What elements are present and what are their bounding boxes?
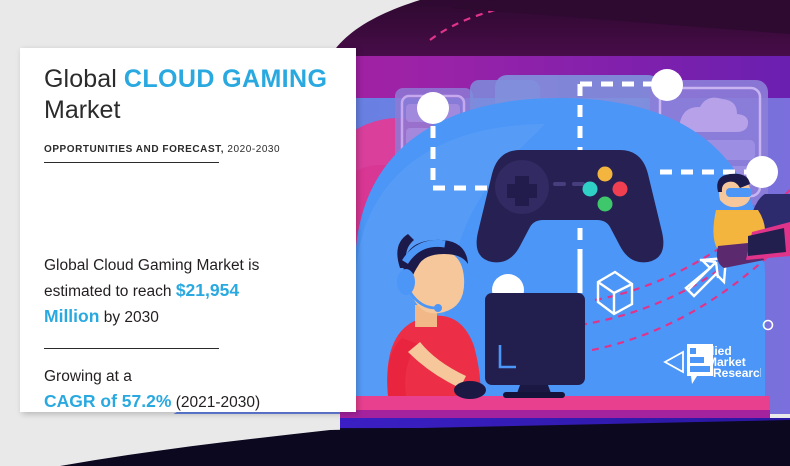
subtitle: OPPORTUNITIES AND FORECAST, 2020-2030 [44, 144, 346, 155]
page-title: Global CLOUD GAMING [44, 64, 346, 95]
monitor-screen [485, 293, 585, 385]
gamepad-button-yellow [598, 167, 613, 182]
node-circle-top-left [417, 92, 449, 124]
title-accent: CLOUD GAMING [124, 65, 327, 93]
headset-earcup [397, 269, 415, 295]
subtitle-underline [44, 162, 219, 163]
headset-mic-tip [434, 304, 442, 312]
page-title-line2: Market [44, 95, 346, 126]
market-value-statement: Global Cloud Gaming Market isestimated t… [44, 253, 344, 330]
gamepad-start [572, 182, 585, 186]
logo-line-3: Research [713, 366, 761, 380]
subtitle-rest: 2020-2030 [224, 144, 280, 155]
title-prefix: Global [44, 65, 124, 93]
desk-surface [340, 396, 770, 410]
gamer-mouse [454, 381, 486, 399]
content-card: Global CLOUD GAMING Market OPPORTUNITIES… [20, 48, 356, 412]
statistics-group: Global Cloud Gaming Market isestimated t… [44, 253, 344, 415]
vr-headset [726, 188, 752, 197]
logo-triangle-icon [665, 352, 683, 372]
node-circle-top-right [651, 69, 683, 101]
stats-divider [44, 348, 219, 349]
gamepad-button-cyan [583, 182, 598, 197]
logo-square-1 [690, 348, 696, 354]
gamepad-button-green [598, 197, 613, 212]
card-heading-group: Global CLOUD GAMING Market OPPORTUNITIES… [44, 64, 346, 163]
stat2-value: CAGR of 57.2% [44, 391, 171, 411]
cagr-statement: Growing at aCAGR of 57.2% (2021-2030) [44, 365, 344, 415]
stat1-value: $21,954 [176, 280, 239, 300]
monitor-base [503, 392, 565, 398]
stat2-pre: Growing at a [44, 368, 132, 385]
stat1-value2: Million [44, 306, 99, 326]
gamepad-button-red [613, 182, 628, 197]
infographic-root: Global CLOUD GAMING Market OPPORTUNITIES… [0, 0, 790, 466]
node-circle-right [746, 156, 778, 188]
stat2-post: (2021-2030) [171, 394, 260, 411]
stat1-pre: Global Cloud Gaming Market is [44, 257, 259, 274]
stat1-post: by 2030 [99, 309, 158, 326]
allied-market-research-logo: Allied Market Research [663, 340, 761, 388]
gamepad-select [553, 182, 566, 186]
stat1-mid: estimated to reach [44, 283, 176, 300]
subtitle-strong: OPPORTUNITIES AND FORECAST, [44, 144, 224, 155]
